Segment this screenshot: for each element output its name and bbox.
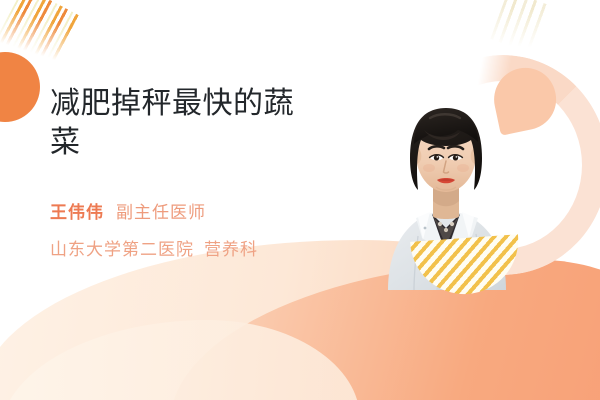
hospital-name: 山东大学第二医院 bbox=[50, 240, 194, 260]
doctor-title: 副主任医师 bbox=[116, 203, 206, 223]
bottom-wave-highlight-decoration bbox=[0, 320, 360, 400]
doctor-video-thumbnail-card: 减肥掉秤最快的蔬菜 王伟伟副主任医师 山东大学第二医院营养科 bbox=[0, 0, 600, 400]
diagonal-stripes-topright-decoration bbox=[490, 0, 549, 54]
doctor-byline: 王伟伟副主任医师 bbox=[50, 198, 340, 223]
doctor-affiliation: 山东大学第二医院营养科 bbox=[50, 235, 340, 260]
diagonal-stripes-topleft-decoration bbox=[0, 0, 81, 71]
card-title: 减肥掉秤最快的蔬菜 bbox=[50, 84, 320, 162]
text-block: 减肥掉秤最快的蔬菜 王伟伟副主任医师 山东大学第二医院营养科 bbox=[50, 84, 340, 260]
orange-circle-decoration bbox=[0, 52, 40, 122]
doctor-portrait-photo bbox=[372, 58, 520, 290]
doctor-name: 王伟伟 bbox=[50, 203, 104, 223]
department-name: 营养科 bbox=[204, 240, 258, 260]
